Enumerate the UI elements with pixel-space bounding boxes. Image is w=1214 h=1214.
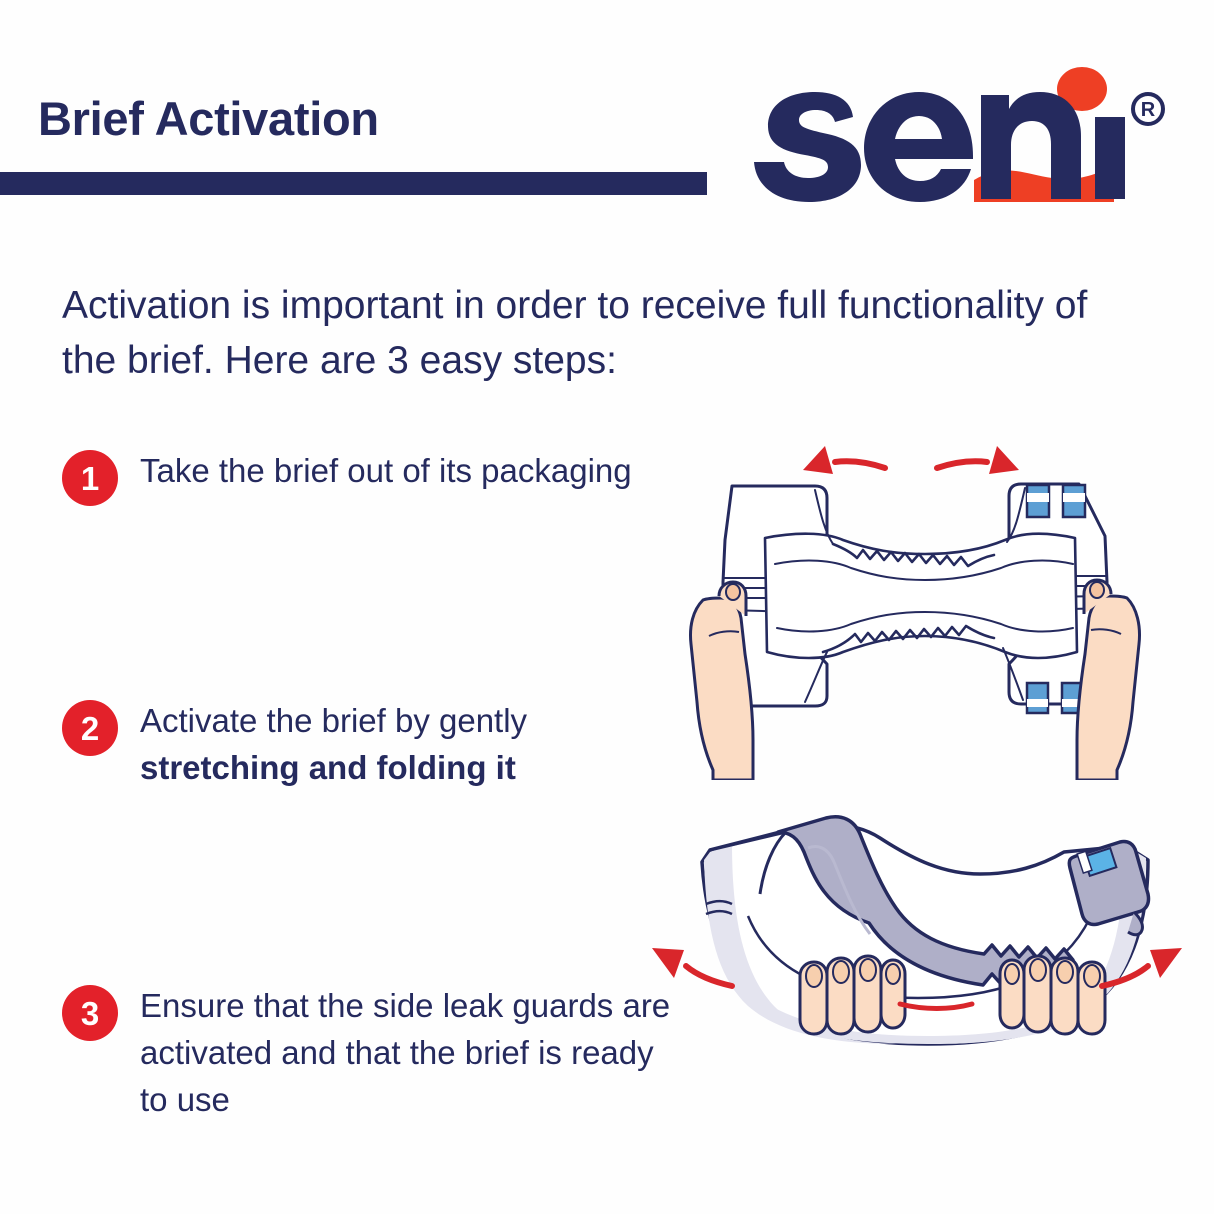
logo-letter-e (864, 92, 973, 202)
svg-text:R: R (1141, 99, 1156, 121)
step-item-2: 2 Activate the brief by gently stretchin… (62, 696, 682, 792)
right-hand-icon (1077, 580, 1140, 780)
fastener-tab-top-2-band (1063, 493, 1085, 502)
step-text-2-plain: Activate the brief by gently (140, 702, 527, 739)
stretch-arrow-right-icon (937, 446, 1019, 474)
step-item-1: 1 Take the brief out of its packaging (62, 446, 632, 506)
step-text-2: Activate the brief by gently stretching … (140, 696, 682, 792)
page-title: Brief Activation (38, 94, 379, 143)
step-number-badge-2: 2 (62, 700, 118, 756)
left-hand-icon (691, 582, 754, 780)
right-thumb-nail (1090, 582, 1104, 598)
step-text-1: Take the brief out of its packaging (140, 446, 632, 495)
header: Brief Activation R (0, 0, 1214, 240)
intro-paragraph: Activation is important in order to rece… (62, 278, 1102, 389)
step-text-3: Ensure that the side leak guards are act… (140, 981, 682, 1124)
step-number-badge-1: 1 (62, 450, 118, 506)
seni-logo: R (752, 62, 1172, 212)
registered-trademark-icon: R (1133, 94, 1163, 124)
step-item-3: 3 Ensure that the side leak guards are a… (62, 981, 682, 1124)
brief-fold-illustration (628, 808, 1188, 1063)
fold-left-hand-icon (800, 956, 905, 1034)
logo-letter-i (1095, 117, 1125, 199)
fastener-tab-bottom-1 (1027, 683, 1048, 713)
step-text-1-plain: Take the brief out of its packaging (140, 452, 632, 489)
left-thumb-nail (726, 584, 740, 600)
infographic-page: Brief Activation R (0, 0, 1214, 1214)
stretch-arrow-left-icon (803, 446, 885, 474)
title-underline-bar (0, 172, 707, 195)
step-text-2-bold: stretching and folding it (140, 749, 516, 786)
fold-right-hand-icon (1000, 956, 1105, 1034)
step-number-badge-3: 3 (62, 985, 118, 1041)
brief-stretch-illustration (675, 440, 1175, 780)
fastener-tab-top-1-band (1027, 493, 1049, 502)
brief-core (765, 534, 1077, 658)
logo-letter-s (754, 92, 861, 202)
fastener-tab-bottom-1-band (1027, 699, 1048, 707)
step-text-3-plain: Ensure that the side leak guards are act… (140, 987, 670, 1118)
